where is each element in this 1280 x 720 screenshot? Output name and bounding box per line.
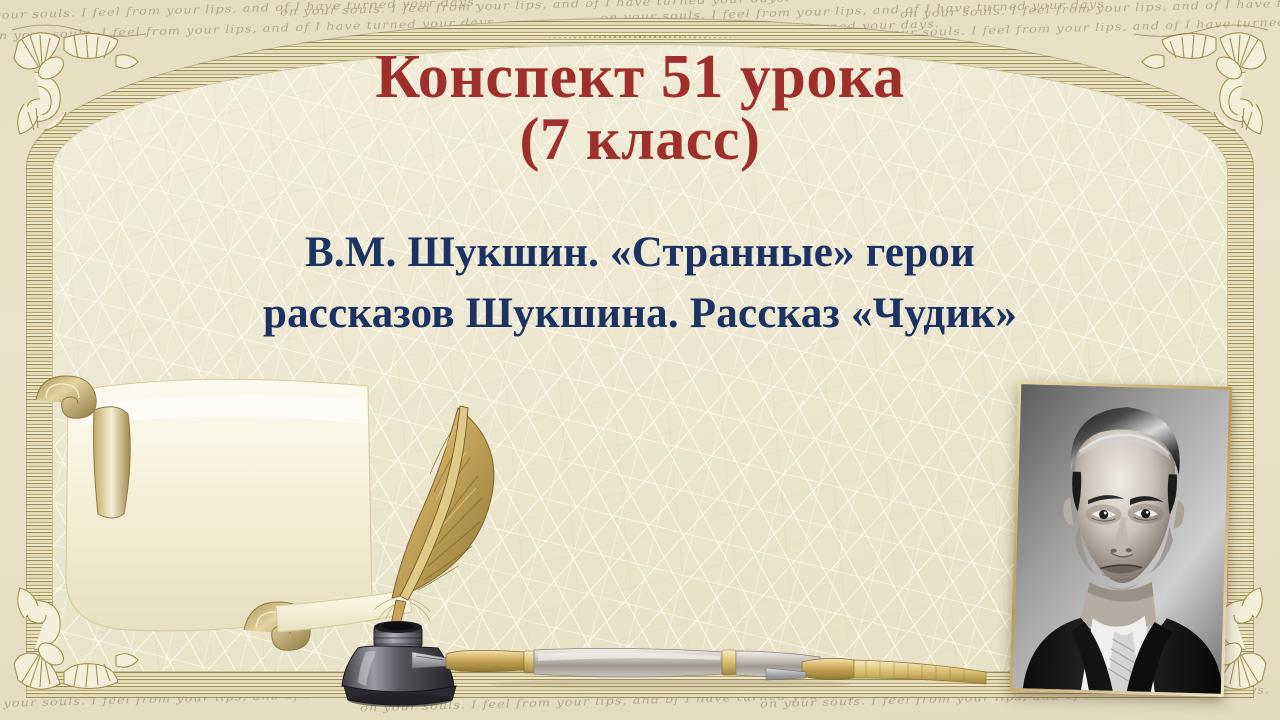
portrait-photo-frame [1010, 381, 1233, 697]
title-line-2: (7 класс) [0, 109, 1280, 170]
subtitle-line-1: В.М. Шукшин. «Странные» герои [0, 222, 1280, 283]
slide-title: Конспект 51 урока (7 класс) [0, 46, 1280, 170]
subtitle-line-2: рассказов Шукшина. Рассказ «Чудик» [0, 283, 1280, 344]
slide-subtitle: В.М. Шукшин. «Странные» герои рассказов … [0, 222, 1280, 344]
presentation-slide: on your souls. I feel from your lips, an… [0, 0, 1280, 720]
title-line-1: Конспект 51 урока [0, 46, 1280, 109]
portrait-photo-shukshin [1013, 384, 1229, 694]
